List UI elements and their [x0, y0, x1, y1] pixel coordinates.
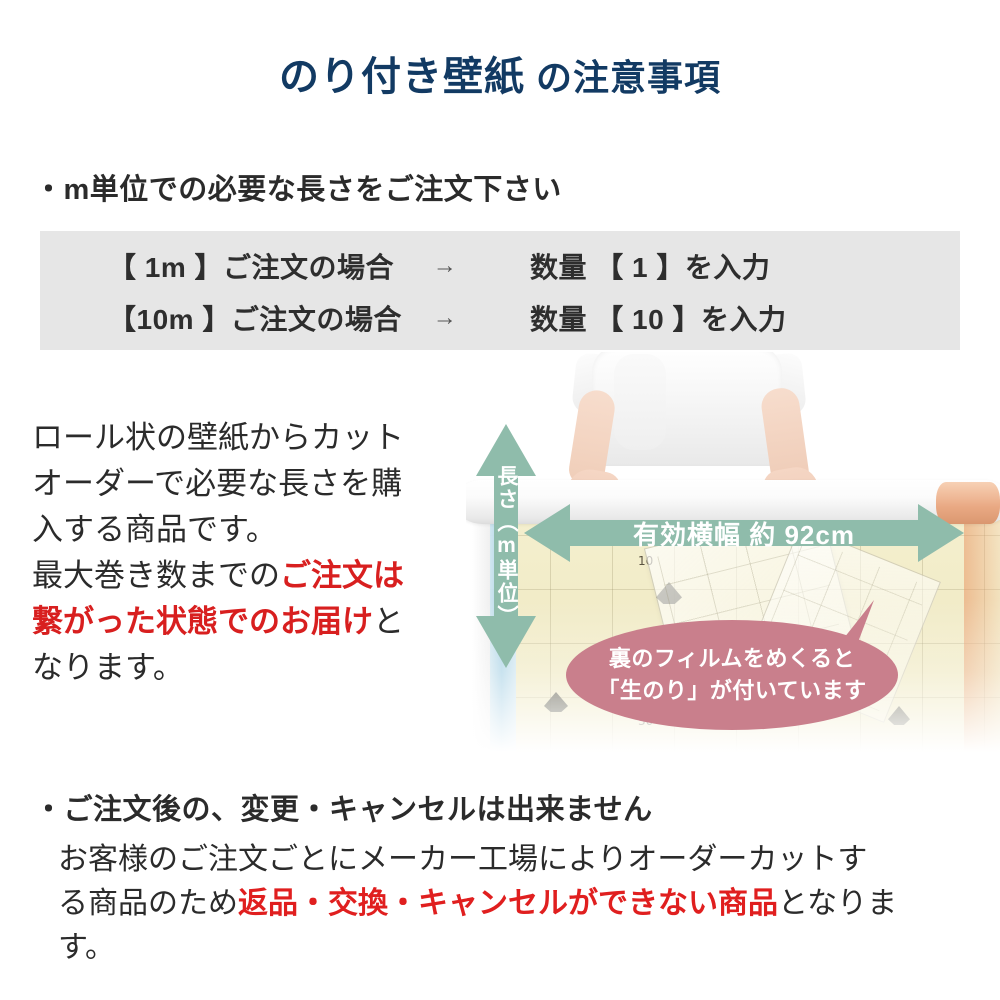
description-line-1: ロール状の壁紙からカット: [32, 420, 404, 455]
cancel-body-line-3: す。: [58, 931, 115, 964]
order-example-quantity: 数量 【 1 】を入力: [500, 246, 960, 286]
order-example-table: 【 1m 】ご注文の場合 → 数量 【 1 】を入力 【10m 】ご注文の場合 …: [40, 231, 960, 350]
description-line-2: オーダーで必要な長さを購: [32, 466, 402, 501]
speech-bubble-line-2: 「生のり」が付いています: [597, 675, 866, 707]
person-shirt: [592, 352, 782, 466]
page-title-suffix: の注意事項: [525, 57, 721, 98]
page-title: のり付き壁紙 の注意事項: [0, 44, 1000, 102]
table-row: 【 1m 】ご注文の場合 → 数量 【 1 】を入力: [40, 240, 960, 292]
order-example-quantity: 数量 【 10 】を入力: [500, 298, 960, 338]
description-emphasis-2: 繋がった状態でのお届け: [32, 604, 373, 639]
cancel-policy-body: お客様のご注文ごとにメーカー工場によりオーダーカットす る商品のため返品・交換・…: [58, 838, 970, 970]
arrow-right-icon: →: [390, 304, 500, 332]
order-example-label: 【 1m 】ご注文の場合: [40, 246, 390, 286]
description-line-6: なります。: [32, 650, 184, 685]
description-line-3: 入する商品です。: [32, 512, 277, 547]
cancel-body-line-2-tail: となりま: [778, 887, 897, 920]
product-description: ロール状の壁紙からカット オーダーで必要な長さを購 入する商品です。 最大巻き数…: [32, 415, 462, 691]
order-unit-heading: ・m単位での必要な長さをご注文下さい: [34, 166, 562, 208]
cancel-body-emphasis: 返品・交換・キャンセルができない商品: [238, 887, 778, 920]
description-emphasis-1: ご注文は: [280, 558, 404, 593]
cancel-body-line-2: る商品のため: [58, 887, 238, 920]
speech-bubble-text: 裏のフィルムをめくると 「生のり」が付いています: [566, 620, 898, 730]
description-line-4: 最大巻き数までの: [32, 558, 280, 593]
arrow-right-icon: →: [390, 252, 500, 280]
cancel-body-line-1: お客様のご注文ごとにメーカー工場によりオーダーカットす: [58, 843, 867, 876]
order-example-label: 【10m 】ご注文の場合: [40, 298, 390, 338]
table-row: 【10m 】ご注文の場合 → 数量 【 10 】を入力: [40, 292, 960, 344]
description-line-5-tail: と: [373, 604, 404, 639]
cancel-policy-heading: ・ご注文後の、変更・キャンセルは出来ません: [34, 786, 653, 828]
speech-bubble-line-1: 裏のフィルムをめくると: [609, 643, 855, 675]
page-title-main: のり付き壁紙: [279, 55, 525, 99]
width-measure-label: 有効横幅 約 92cm: [524, 502, 964, 564]
notice-page: のり付き壁紙 の注意事項 ・m単位での必要な長さをご注文下さい 【 1m 】ご注…: [0, 0, 1000, 1000]
